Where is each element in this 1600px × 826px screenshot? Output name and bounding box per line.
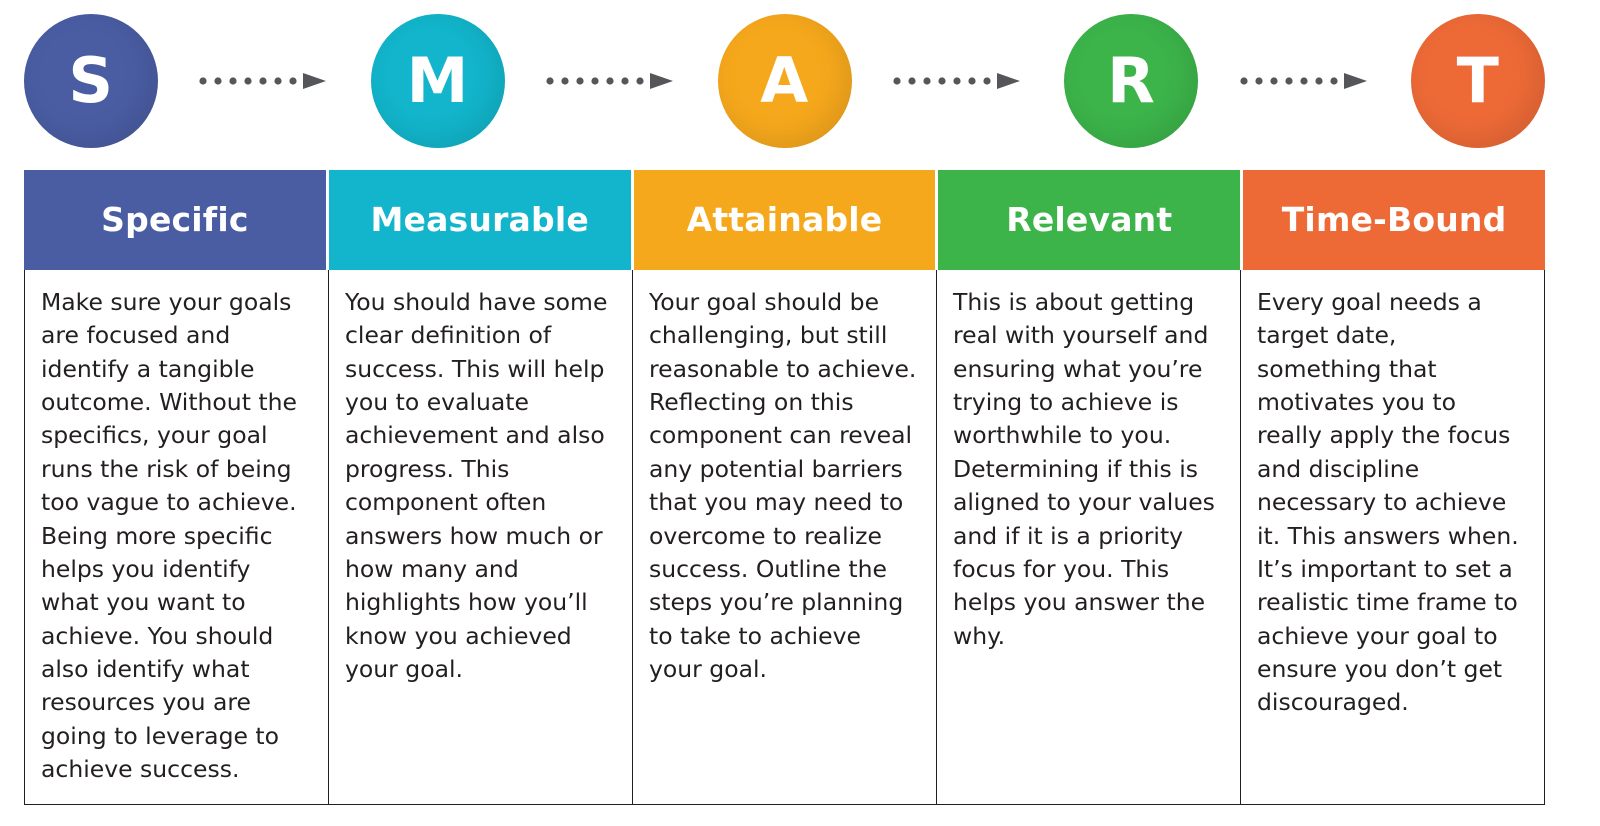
flow-letter-a: A: [760, 50, 808, 112]
flow-letter-t: T: [1457, 50, 1500, 112]
table-cell-attainable: Your goal should be challenging, but sti…: [633, 270, 937, 804]
table-header-label: Time-Bound: [1282, 202, 1507, 238]
dotted-arrow-right-icon: [1198, 73, 1411, 89]
table-header-label: Relevant: [1006, 202, 1172, 238]
dotted-arrow-right-icon: [852, 73, 1065, 89]
flow-letter-r: R: [1107, 50, 1155, 112]
table-header-time-bound: Time-Bound: [1243, 170, 1545, 270]
dotted-arrow-right-icon: [158, 73, 371, 89]
flow-node-a: A: [718, 14, 852, 148]
table-body-row: Make sure your goals are focused and ide…: [24, 270, 1545, 805]
flow-node-t: T: [1411, 14, 1545, 148]
table-header-measurable: Measurable: [329, 170, 634, 270]
table-cell-text: Your goal should be challenging, but sti…: [649, 286, 918, 686]
flow-node-r: R: [1064, 14, 1198, 148]
table-cell-time-bound: Every goal needs a target date, somethin…: [1241, 270, 1544, 804]
flow-letter-m: M: [407, 50, 469, 112]
flow-node-m: M: [371, 14, 505, 148]
table-header-label: Attainable: [687, 202, 883, 238]
table-header-specific: Specific: [24, 170, 329, 270]
table-cell-specific: Make sure your goals are focused and ide…: [25, 270, 329, 804]
smart-flow-row: S M: [24, 14, 1545, 148]
dotted-arrow-right-icon: [505, 73, 718, 89]
table-header-label: Specific: [101, 202, 248, 238]
table-cell-measurable: You should have some clear definition of…: [329, 270, 633, 804]
table-cell-text: This is about getting real with yourself…: [953, 286, 1222, 653]
table-header-relevant: Relevant: [938, 170, 1243, 270]
flow-node-s: S: [24, 14, 158, 148]
table-cell-text: Every goal needs a target date, somethin…: [1257, 286, 1526, 720]
table-header-row: Specific Measurable Attainable Relevant …: [24, 170, 1545, 270]
table-header-attainable: Attainable: [634, 170, 939, 270]
smart-definitions-table: Specific Measurable Attainable Relevant …: [24, 170, 1545, 805]
table-cell-text: You should have some clear definition of…: [345, 286, 614, 686]
table-cell-text: Make sure your goals are focused and ide…: [41, 286, 310, 786]
smart-goals-infographic: S M: [0, 0, 1600, 826]
table-cell-relevant: This is about getting real with yourself…: [937, 270, 1241, 804]
flow-letter-s: S: [68, 50, 113, 112]
table-header-label: Measurable: [370, 202, 588, 238]
